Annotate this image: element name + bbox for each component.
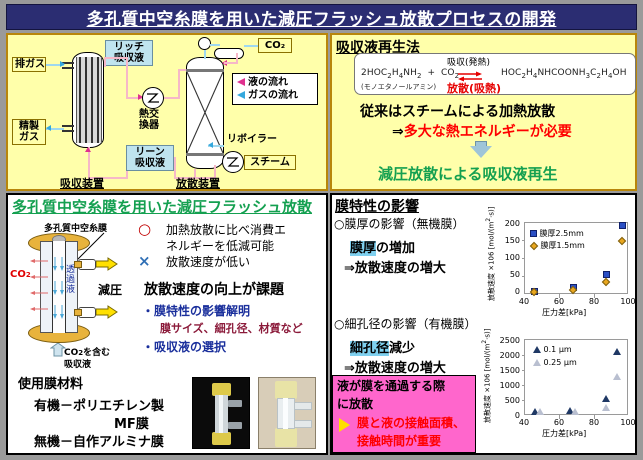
absorber-fiber-4 bbox=[97, 57, 99, 143]
permeate-flow-arrows-icon bbox=[52, 253, 68, 329]
materials-heading: 使用膜材料 bbox=[18, 373, 83, 392]
label-flue-gas: 排ガス bbox=[12, 57, 46, 72]
label-vacuum: 減圧 bbox=[98, 281, 122, 298]
poster-root: 多孔質中空糸膜を用いた減圧フラッシュ放散プロセスの開発 排ガス 精製ガス リッチ… bbox=[0, 0, 643, 460]
chart2-legend: 0.1 μm 0.25 μm bbox=[533, 345, 577, 368]
page-title: 多孔質中空糸膜を用いた減圧フラッシュ放散プロセスの開発 bbox=[87, 5, 557, 30]
photo1-port-top bbox=[228, 400, 242, 407]
vacuum-arrow-bottom-icon bbox=[96, 305, 118, 320]
callout-line-1: 液が膜を通過する際 bbox=[337, 379, 445, 393]
results-heading: 膜特性の影響 bbox=[335, 196, 419, 216]
pros-text-line1: 加熱放散に比べ消費エ bbox=[166, 223, 286, 237]
legend-diamond-icon bbox=[530, 242, 538, 250]
pipe-rich-top bbox=[104, 57, 128, 59]
reaction-equation-left: 2HOC2H4NH2 + CO2 bbox=[361, 68, 459, 80]
chart-thickness: 放散速度 ×106 [mol/(m2·s)] 200 150 100 50 0 … bbox=[478, 209, 636, 317]
chart1-point-blue-4 bbox=[619, 222, 626, 229]
chart1-ytick-150: 150 bbox=[494, 236, 520, 245]
chart1-ytickmark-2 bbox=[522, 258, 525, 259]
membrane-approach-panel: 多孔質中空糸膜を用いた減圧フラッシュ放散 多孔質中空糸膜 CO2 透過液 bbox=[6, 193, 328, 455]
label-lean-solution: リーン吸収液 bbox=[126, 145, 174, 171]
chart2-legend-item-1: 0.1 μm bbox=[533, 345, 577, 355]
chart2-point-filled-3 bbox=[602, 395, 610, 402]
pipe-hx-up bbox=[178, 69, 180, 99]
pros-text-line2: ネルギーを低減可能 bbox=[166, 239, 274, 253]
flue-gas-arrow bbox=[60, 61, 65, 67]
bullet-membrane-properties: ・膜特性の影響解明 bbox=[142, 302, 250, 319]
conclusion-line: 減圧放散による吸収液再生 bbox=[378, 163, 558, 184]
port-seal-bottom bbox=[74, 309, 82, 316]
chart1-xtick-80: 80 bbox=[584, 297, 604, 306]
legend-gas-row: ガスの流れ bbox=[237, 89, 313, 102]
reverse-reaction-label: 放散(吸熱) bbox=[447, 80, 501, 96]
stripper-tray-bottom bbox=[186, 153, 224, 156]
poster-title-bar: 多孔質中空糸膜を用いた減圧フラッシュ放散プロセスの開発 bbox=[6, 4, 637, 30]
chart2-ytickmark-2 bbox=[522, 370, 525, 371]
chart2-ytickmark-3 bbox=[522, 385, 525, 386]
absorber-outlet-stub2 bbox=[62, 130, 74, 132]
callout-line-4: 接触時間が重要 bbox=[357, 434, 441, 448]
reaction-equation-box: 吸収(発熱) 2HOC2H4NH2 + CO2 HOC2H4NHCOONH3C2… bbox=[354, 53, 636, 95]
pipe-condenser-out bbox=[210, 44, 220, 46]
down-arrow-icon bbox=[470, 146, 492, 158]
chart2-ytickmark-4 bbox=[522, 400, 525, 401]
chart2-ytickmark-1 bbox=[522, 355, 525, 356]
chart2-ytick-2500: 2500 bbox=[486, 336, 520, 345]
callout-line-3: 膜と液の接触面積、 bbox=[357, 416, 465, 430]
absorber-fiber-1 bbox=[79, 57, 81, 143]
label-steam: スチーム bbox=[244, 155, 296, 170]
pros-mark-icon: ○ bbox=[138, 222, 151, 237]
result-sub2-conclusion: ⇒放散速度の増大 bbox=[344, 357, 446, 376]
chart2-point-open-3 bbox=[602, 404, 610, 411]
results-panel: 膜特性の影響 ○膜厚の影響（無機膜） 膜厚の増加 ⇒放散速度の増大 放散速度 ×… bbox=[330, 193, 637, 455]
label-co2-product: CO₂ bbox=[258, 38, 292, 53]
chart1-plot-area: 膜厚2.5mm 膜厚1.5mm bbox=[524, 222, 628, 294]
bullet-membrane-properties-sub: 膜サイズ、細孔径、材質など bbox=[160, 320, 303, 336]
label-rich-solution: リッチ吸収液 bbox=[105, 40, 153, 66]
chart1-point-blue-3 bbox=[603, 271, 610, 278]
chart2-ytick-1500: 1500 bbox=[486, 366, 520, 375]
chart1-ytickmark-3 bbox=[522, 276, 525, 277]
membrane-module-photo-2 bbox=[258, 377, 316, 449]
chart2-ytick-1000: 1000 bbox=[486, 381, 520, 390]
label-absorber-unit: 吸収装置 bbox=[60, 175, 104, 191]
photo2-port-bottom bbox=[294, 420, 312, 428]
absorber-inlet-stub2 bbox=[62, 67, 74, 69]
chart2-ytick-2000: 2000 bbox=[486, 351, 520, 360]
co2-diffusion-arrows-icon bbox=[26, 255, 52, 325]
chart2-xtick-60: 60 bbox=[549, 418, 569, 427]
pipe-reflux-down bbox=[236, 53, 238, 64]
chart2-point-open-1 bbox=[536, 408, 544, 415]
callout-line-2: に放散 bbox=[337, 397, 373, 411]
process-flow-panel: 排ガス 精製ガス リッチ吸収液 リーン吸収液 熱交換器 bbox=[6, 33, 328, 191]
chart2-ytick-500: 500 bbox=[486, 396, 520, 405]
pipe-co2-out bbox=[244, 45, 258, 47]
membrane-section-heading: 多孔質中空糸膜を用いた減圧フラッシュ放散 bbox=[12, 196, 312, 217]
photo2-top-cap bbox=[275, 381, 297, 399]
pipe-rich-down bbox=[126, 57, 128, 99]
chart2-point-filled-4 bbox=[613, 348, 621, 355]
clean-gas-arrow bbox=[46, 125, 51, 131]
absorber-outlet-stub bbox=[62, 125, 74, 127]
label-feed-solution-2: 吸収液 bbox=[64, 357, 91, 370]
chart1-point-orange-4 bbox=[618, 237, 626, 245]
chart1-ytick-100: 100 bbox=[494, 253, 520, 262]
pipe-lean-arrow bbox=[85, 147, 91, 152]
result-sub1-conclusion: ⇒放散速度の増大 bbox=[344, 257, 446, 276]
material-organic-sub: MF膜 bbox=[114, 413, 149, 432]
reboiler-vapor-arrow bbox=[208, 142, 213, 148]
stripper-packing-icon bbox=[186, 72, 224, 153]
chart1-ytick-50: 50 bbox=[494, 270, 520, 279]
result-sub2-heading: ○細孔径の影響（有機膜） bbox=[334, 315, 476, 332]
legend-triangle-open-icon bbox=[533, 359, 541, 366]
key-finding-callout: 液が膜を通過する際 に放散 膜と液の接触面積、 接触時間が重要 bbox=[332, 375, 476, 453]
chart1-xtick-60: 60 bbox=[549, 297, 569, 306]
gas-arrow-icon bbox=[237, 91, 245, 99]
chart1-legend-item-2: 膜厚1.5mm bbox=[530, 241, 585, 251]
chart1-xtick-40: 40 bbox=[514, 297, 534, 306]
result-sub1-point: 膜厚の増加 bbox=[350, 237, 415, 256]
photo2-bottom-cap bbox=[275, 428, 297, 447]
chart1-point-orange-3 bbox=[602, 278, 610, 286]
chart2-point-open-2 bbox=[571, 408, 579, 415]
cons-text: 放散速度が低い bbox=[166, 255, 250, 269]
chart2-xtick-80: 80 bbox=[584, 418, 604, 427]
chart-pore-size: 放散速度 ×106 [mol/(m2·s)] 2500 2000 1500 10… bbox=[478, 327, 636, 439]
legend-liquid-row: 液の流れ bbox=[237, 76, 313, 89]
label-reboiler: リボイラー bbox=[227, 134, 277, 145]
chart1-legend-item-1: 膜厚2.5mm bbox=[530, 229, 585, 239]
chart1-ytickmark-1 bbox=[522, 240, 525, 241]
label-stripper-unit: 放散装置 bbox=[176, 175, 220, 191]
chart1-xtick-100: 100 bbox=[617, 297, 639, 306]
heat-exchanger-zigzag-icon bbox=[143, 88, 163, 108]
result-sub2-point: 細孔径減少 bbox=[350, 337, 415, 356]
absorber-fiber-2 bbox=[85, 57, 87, 143]
heat-exchanger-symbol bbox=[142, 87, 164, 109]
vacuum-arrow-top-icon bbox=[96, 257, 118, 272]
photo1-port-bottom bbox=[228, 422, 242, 429]
chart1-ytick-0: 0 bbox=[494, 287, 520, 296]
cons-mark-icon: × bbox=[138, 254, 151, 269]
label-clean-gas: 精製ガス bbox=[12, 119, 46, 145]
port-seal-top bbox=[74, 261, 82, 268]
photo1-fiber bbox=[219, 395, 223, 433]
liquid-arrow-icon bbox=[237, 78, 245, 86]
forward-reaction-label: 吸収(発熱) bbox=[447, 55, 490, 68]
photo2-fiber bbox=[283, 398, 288, 429]
reboiler-zigzag-icon bbox=[225, 156, 241, 169]
separator-drum bbox=[214, 48, 244, 59]
chart2-xtick-40: 40 bbox=[514, 418, 534, 427]
label-heat-exchanger: 熱交換器 bbox=[139, 109, 159, 131]
absorber-fiber-3 bbox=[91, 57, 93, 143]
legend-triangle-filled-icon bbox=[533, 346, 541, 353]
chart2-legend-item-2: 0.25 μm bbox=[533, 358, 577, 368]
material-organic: 有機－ポリエチレン製 bbox=[34, 395, 164, 414]
energy-requirement-line: ⇒多大な熱エネルギーが必要 bbox=[392, 121, 572, 141]
regeneration-panel: 吸収液再生法 吸収(発熱) 2HOC2H4NH2 + CO2 HOC2H4NHC… bbox=[330, 33, 637, 191]
photo2-port-top bbox=[294, 402, 312, 410]
flow-legend: 液の流れ ガスの流れ bbox=[232, 73, 318, 105]
chart2-point-open-4 bbox=[613, 373, 621, 380]
chart1-legend: 膜厚2.5mm 膜厚1.5mm bbox=[530, 229, 585, 251]
challenge-text: 放散速度の向上が課題 bbox=[144, 279, 284, 299]
chart1-xlabel: 圧力差[kPa] bbox=[542, 307, 586, 318]
bullet-absorbent-selection: ・吸収液の選択 bbox=[142, 338, 226, 355]
chart2-plot-area: 0.1 μm 0.25 μm bbox=[524, 339, 628, 415]
chart2-xlabel: 圧力差[kPa] bbox=[542, 428, 586, 439]
result-sub1-heading: ○膜厚の影響（無機膜） bbox=[334, 215, 464, 232]
conventional-method-line: 従来はスチームによる加熱放散 bbox=[360, 101, 555, 121]
material-inorganic: 無機－自作アルミナ膜 bbox=[34, 431, 164, 450]
membrane-module-photo-1 bbox=[192, 377, 250, 449]
reaction-equation-right: HOC2H4NHCOONH3C2H4OH bbox=[501, 68, 627, 80]
chart2-xtick-100: 100 bbox=[617, 418, 639, 427]
legend-square-icon bbox=[530, 230, 537, 237]
chart1-ytick-200: 200 bbox=[494, 219, 520, 228]
compound-name-note: (モノエタノールアミン) bbox=[361, 82, 436, 92]
photo1-bottom-cap bbox=[212, 432, 231, 445]
callout-arrow-icon bbox=[339, 418, 350, 432]
